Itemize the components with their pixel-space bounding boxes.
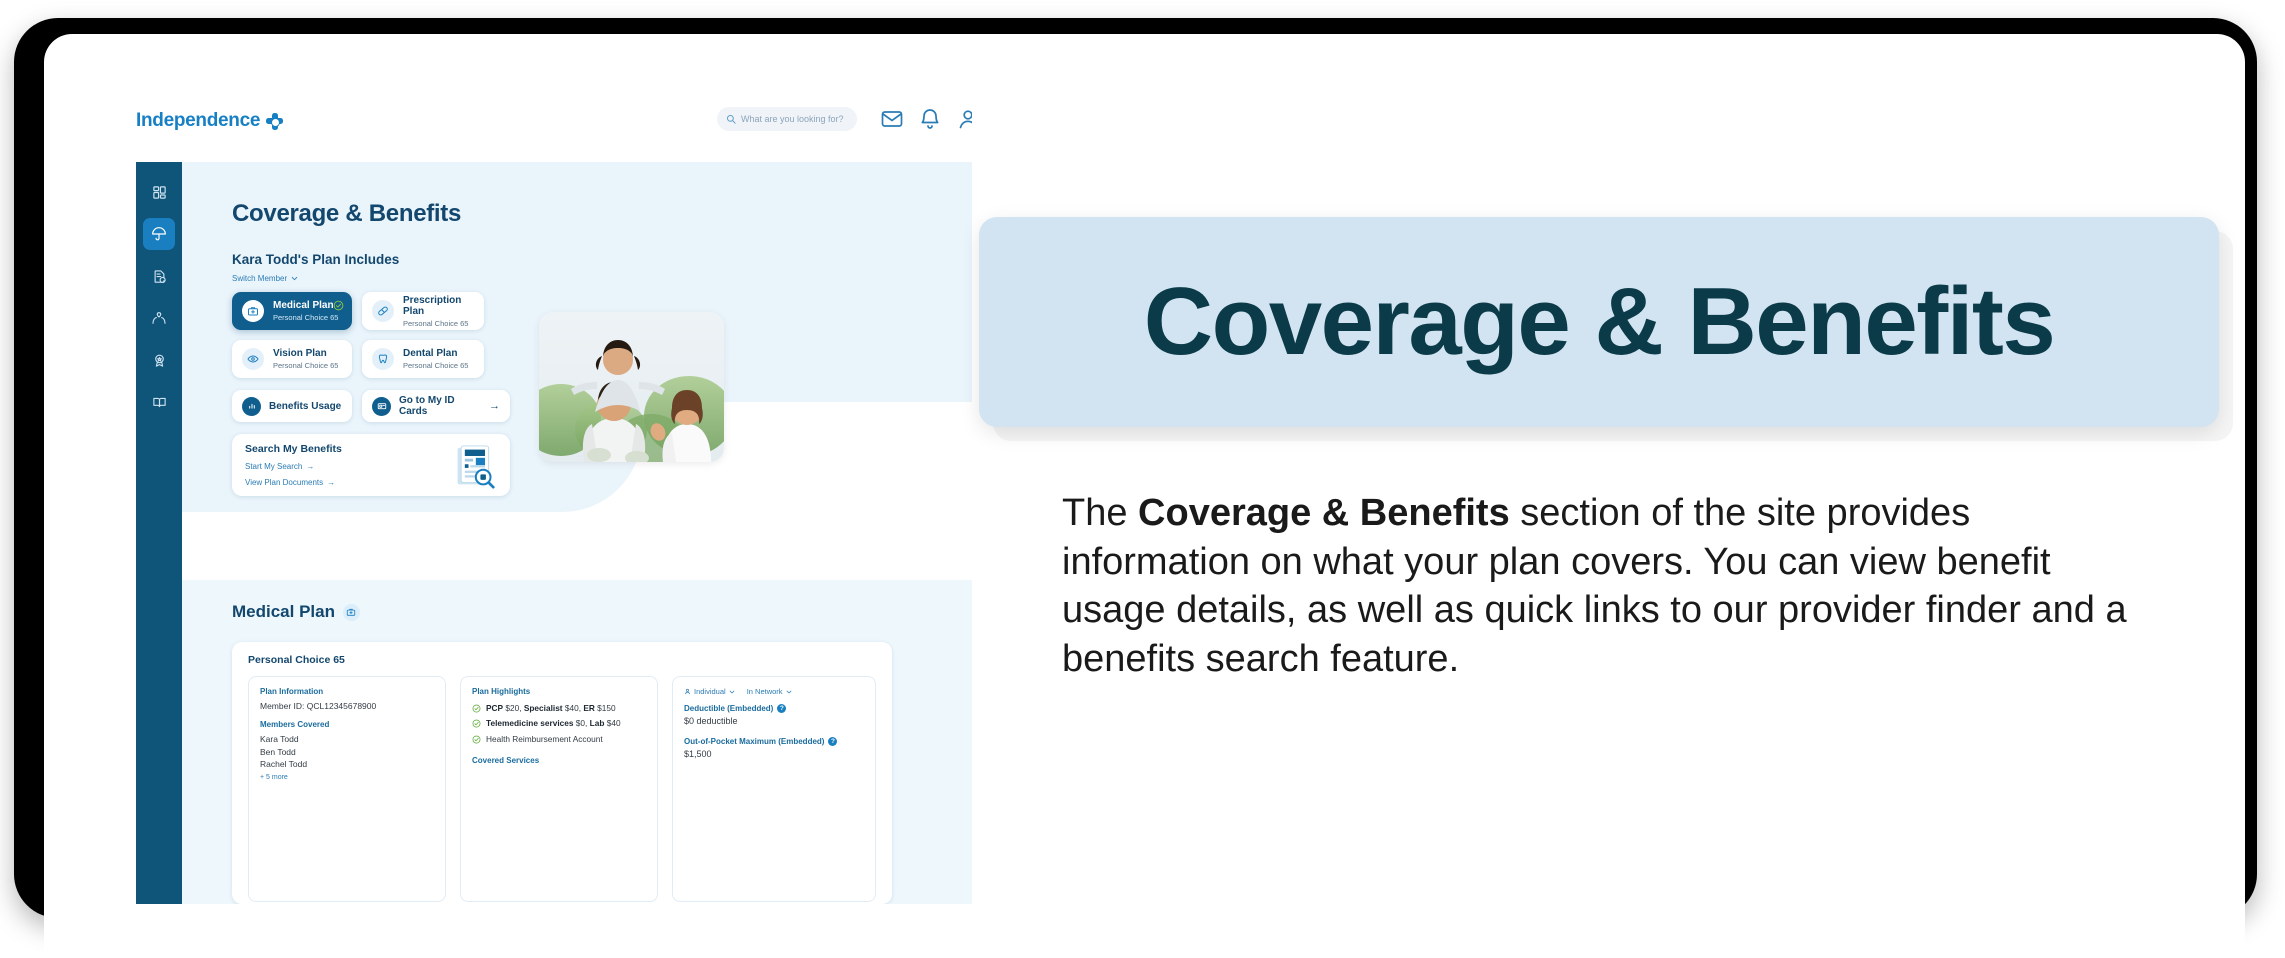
view-plan-documents-label: View Plan Documents — [245, 478, 323, 487]
info-icon[interactable]: ? — [828, 737, 837, 746]
sidebar-item-claims[interactable] — [143, 260, 175, 292]
more-members-link[interactable]: + 5 more — [260, 774, 434, 781]
plan-card-subtitle: Personal Choice 65 — [273, 361, 338, 370]
family-photo — [539, 312, 724, 462]
plan-highlights-column: Plan Highlights PCP $20, Specialist $40,… — [460, 676, 658, 902]
member-name: Rachel Todd — [260, 758, 434, 771]
plan-includes-title: Kara Todd's Plan Includes — [232, 252, 399, 267]
app-content: Coverage & Benefits Kara Todd's Plan Inc… — [182, 162, 972, 904]
highlight-item: PCP $20, Specialist $40, ER $150 — [472, 703, 646, 713]
sidebar-item-rewards[interactable] — [143, 344, 175, 376]
start-my-search-label: Start My Search — [245, 462, 302, 471]
switch-member-dropdown[interactable]: Switch Member — [232, 274, 298, 283]
page-title: Coverage & Benefits — [232, 200, 461, 228]
independence-cross-icon — [266, 113, 283, 130]
search-input[interactable]: What are you looking for? — [717, 107, 857, 131]
covered-services-header: Covered Services — [472, 756, 646, 765]
plan-card-title: Medical Plan — [273, 300, 338, 312]
search-placeholder: What are you looking for? — [741, 114, 844, 124]
resources-book-icon — [152, 395, 167, 410]
individual-label: Individual — [694, 687, 726, 696]
claims-document-icon — [152, 269, 167, 284]
switch-member-label: Switch Member — [232, 274, 287, 283]
title-banner: Coverage & Benefits — [979, 217, 2219, 427]
tooth-icon — [372, 348, 394, 370]
highlight-item: Health Reimbursement Account — [472, 734, 646, 744]
deductible-label: Deductible (Embedded) ? — [684, 704, 864, 713]
medical-plan-detail-card: Personal Choice 65 Plan Information Memb… — [232, 642, 892, 904]
benefits-usage-label: Benefits Usage — [269, 401, 341, 412]
user-icon — [684, 688, 691, 695]
oop-value: $1,500 — [684, 749, 864, 759]
banner-title: Coverage & Benefits — [1144, 274, 2054, 370]
chevron-down-icon — [291, 275, 298, 282]
bar-chart-icon — [242, 397, 261, 416]
wellness-heart-icon — [151, 310, 167, 326]
sidebar-item-coverage[interactable] — [143, 218, 175, 250]
plan-name-heading: Personal Choice 65 — [248, 654, 345, 666]
app-window: Independence What are you looking for? — [62, 84, 972, 904]
user-icon[interactable] — [956, 107, 972, 131]
plan-card-subtitle: Personal Choice 65 — [403, 361, 468, 370]
device-screen: Independence What are you looking for? — [44, 34, 2245, 958]
plan-card-subtitle: Personal Choice 65 — [403, 319, 474, 328]
dashboard-icon — [152, 185, 167, 200]
id-cards-button[interactable]: Go to My ID Cards → — [362, 390, 510, 422]
start-my-search-link[interactable]: Start My Search → — [245, 462, 314, 471]
umbrella-coverage-icon — [151, 226, 167, 242]
check-circle-icon — [333, 300, 344, 311]
search-benefits-title: Search My Benefits — [245, 443, 342, 455]
oop-label: Out-of-Pocket Maximum (Embedded) ? — [684, 737, 864, 746]
plan-card-vision[interactable]: Vision Plan Personal Choice 65 — [232, 340, 352, 378]
chevron-down-icon — [729, 689, 735, 695]
plan-information-column: Plan Information Member ID: QCL123456789… — [248, 676, 446, 902]
brand-logo[interactable]: Independence — [136, 110, 283, 132]
app-topbar: Independence What are you looking for? — [62, 84, 972, 162]
member-name: Ben Todd — [260, 746, 434, 759]
arrow-right-icon: → — [327, 478, 335, 487]
check-circle-icon — [472, 719, 481, 728]
individual-selector[interactable]: Individual — [684, 687, 735, 696]
medical-kit-icon — [343, 604, 360, 621]
plan-card-title: Vision Plan — [273, 348, 338, 360]
highlight-bold: PCP — [486, 703, 503, 713]
plan-highlights-header: Plan Highlights — [472, 687, 646, 696]
medical-kit-icon — [242, 300, 264, 322]
plan-card-title: Prescription Plan — [403, 295, 474, 318]
document-search-illustration — [452, 444, 496, 490]
network-label: In Network — [747, 687, 783, 696]
arrow-right-icon: → — [489, 401, 500, 412]
search-my-benefits-card[interactable]: Search My Benefits Start My Search → Vie… — [232, 434, 510, 496]
medical-plan-heading: Medical Plan — [232, 602, 360, 622]
eye-icon — [242, 348, 264, 370]
search-icon — [726, 114, 736, 124]
id-card-icon — [372, 397, 391, 416]
highlight-item: Telemedicine services $0, Lab $40 — [472, 718, 646, 728]
rewards-badge-icon — [152, 353, 167, 368]
cost-share-column: Individual In Network Deductible (Embedd… — [672, 676, 876, 902]
id-cards-label: Go to My ID Cards — [399, 395, 481, 417]
chevron-down-icon — [786, 689, 792, 695]
pill-icon — [372, 300, 394, 322]
plan-information-header: Plan Information — [260, 687, 434, 696]
desc-bold: Coverage & Benefits — [1138, 492, 1510, 534]
member-name: Kara Todd — [260, 733, 434, 746]
brand-name: Independence — [136, 110, 260, 132]
app-sidebar — [136, 162, 182, 904]
bell-icon[interactable] — [918, 107, 942, 131]
benefits-usage-button[interactable]: Benefits Usage — [232, 390, 352, 422]
check-circle-icon — [472, 704, 481, 713]
deductible-value: $0 deductible — [684, 716, 864, 726]
arrow-right-icon: → — [306, 462, 314, 471]
plan-card-title: Dental Plan — [403, 348, 468, 360]
sidebar-item-wellness[interactable] — [143, 302, 175, 334]
device-bezel: Independence What are you looking for? — [14, 18, 2257, 918]
medical-plan-title: Medical Plan — [232, 602, 335, 622]
sidebar-item-resources[interactable] — [143, 386, 175, 418]
info-icon[interactable]: ? — [777, 704, 786, 713]
members-covered-header: Members Covered — [260, 720, 434, 729]
member-id: Member ID: QCL12345678900 — [260, 700, 434, 713]
sidebar-item-dashboard[interactable] — [143, 176, 175, 208]
plan-card-medical[interactable]: Medical Plan Personal Choice 65 — [232, 292, 352, 330]
mail-icon[interactable] — [880, 107, 904, 131]
cost-share-selectors: Individual In Network — [684, 687, 864, 696]
network-selector[interactable]: In Network — [747, 687, 792, 696]
plan-card-prescription[interactable]: Prescription Plan Personal Choice 65 — [362, 292, 484, 330]
plan-card-dental[interactable]: Dental Plan Personal Choice 65 — [362, 340, 484, 378]
view-plan-documents-link[interactable]: View Plan Documents → — [245, 478, 335, 487]
description-text: The Coverage & Benefits section of the s… — [1062, 489, 2152, 684]
desc-part-1: The — [1062, 492, 1138, 534]
plan-card-subtitle: Personal Choice 65 — [273, 313, 338, 322]
check-circle-icon — [472, 735, 481, 744]
